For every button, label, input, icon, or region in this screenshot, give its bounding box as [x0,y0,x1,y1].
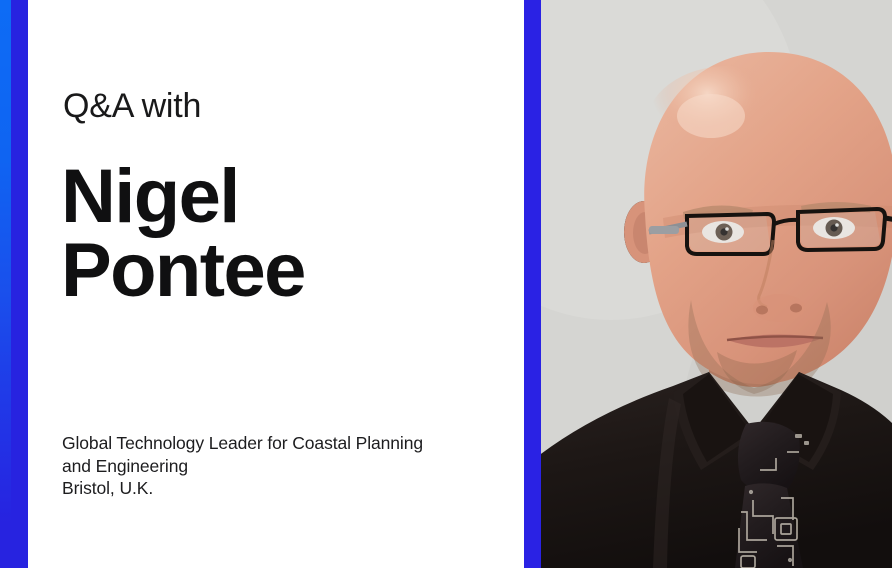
accent-bar-blue-gradient [0,0,11,568]
kicker-label: Q&A with [63,88,201,125]
role-block: Global Technology Leader for Coastal Pla… [62,432,492,500]
headline-line-last-name: Pontee [61,234,305,308]
left-accent-bars [0,0,28,568]
role-location: Bristol, U.K. [62,477,492,500]
divider-accent-bar [524,0,541,568]
role-line-1: Global Technology Leader for Coastal Pla… [62,432,492,455]
role-line-2: and Engineering [62,455,492,478]
qa-feature-slide: Q&A with Nigel Pontee Global Technology … [0,0,892,568]
portrait-photo [541,0,892,568]
page-title: Nigel Pontee [61,160,305,309]
headline-line-first-name: Nigel [61,160,305,234]
text-panel: Q&A with Nigel Pontee Global Technology … [28,0,524,568]
